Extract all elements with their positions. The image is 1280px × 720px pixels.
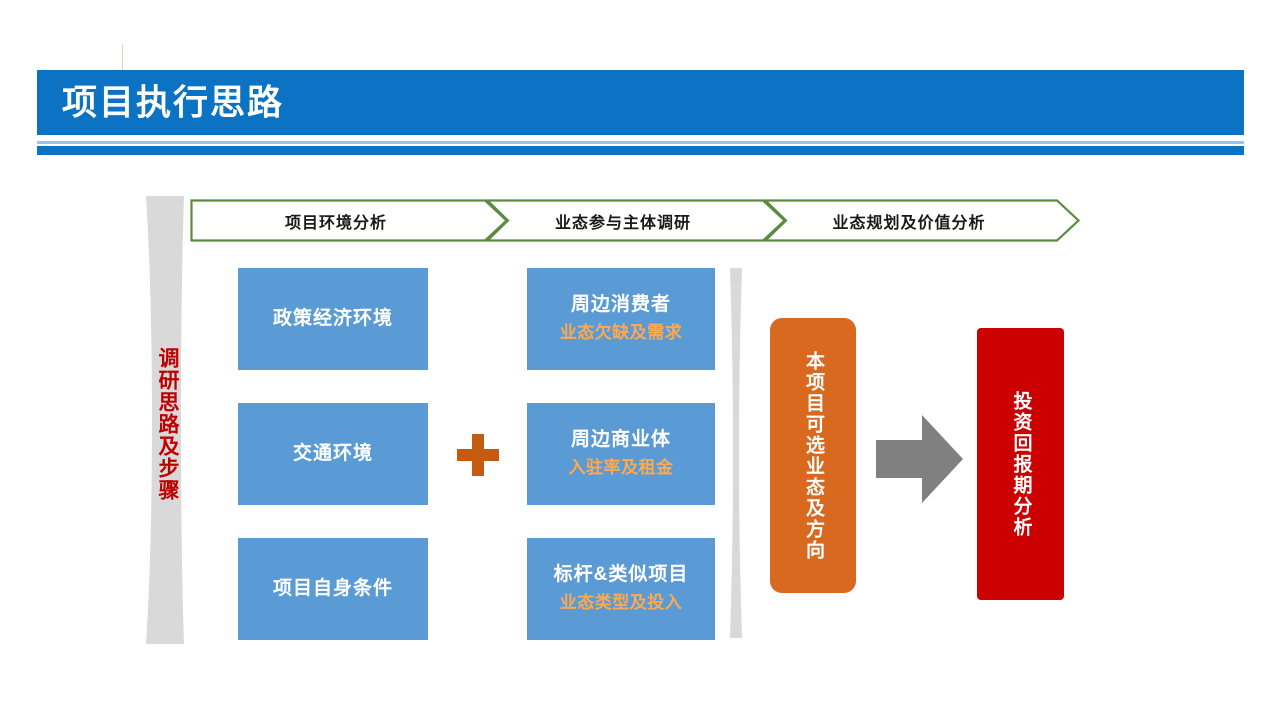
process-step-3[interactable]: 业态规划及价值分析 [764,199,1080,242]
card-title: 周边消费者 [571,294,671,317]
plus-icon [455,432,501,478]
header-tick-mark [122,44,123,72]
header-rule-light [37,141,1244,144]
process-step-1[interactable]: 项目环境分析 [190,199,508,242]
left-banner-shape: 调研思路及步骤 [138,196,192,644]
outcome-final[interactable]: 投资回报期分析 [977,328,1064,600]
outcome-final-label: 投资回报期分析 [1011,391,1031,538]
card-benchmark-projects[interactable]: 标杆&类似项目 业态类型及投入 [527,538,715,640]
process-step-2[interactable]: 业态参与主体调研 [486,199,786,242]
header-bar: 项目执行思路 [37,70,1244,135]
card-title: 标杆&类似项目 [554,564,689,587]
header-rule-dark [37,146,1244,155]
left-banner-label: 调研思路及步骤 [152,324,178,524]
process-step-row: 项目环境分析 业态参与主体调研 业态规划及价值分析 [190,199,1080,242]
card-title: 政策经济环境 [273,308,393,331]
vertical-divider-icon [726,268,746,638]
card-nearby-commerce[interactable]: 周边商业体 入驻率及租金 [527,403,715,505]
process-step-3-label: 业态规划及价值分析 [764,199,1080,242]
outcome-intermediate[interactable]: 本项目可选业态及方向 [770,318,856,593]
process-step-2-label: 业态参与主体调研 [486,199,786,242]
card-subtitle: 业态类型及投入 [560,593,683,613]
slide-canvas: 项目执行思路 调研思路及步骤 项目环境分析 业态参与主体调研 业态规划及价值 [0,0,1280,720]
card-subtitle: 业态欠缺及需求 [560,323,683,343]
card-policy-economy[interactable]: 政策经济环境 [238,268,428,370]
card-title: 交通环境 [293,443,373,466]
card-transport[interactable]: 交通环境 [238,403,428,505]
right-arrow-icon [876,413,964,505]
process-step-1-label: 项目环境分析 [190,199,508,242]
outcome-intermediate-label: 本项目可选业态及方向 [803,351,823,561]
card-title: 周边商业体 [571,429,671,452]
page-title: 项目执行思路 [62,85,284,120]
card-title: 项目自身条件 [273,578,393,601]
card-project-conditions[interactable]: 项目自身条件 [238,538,428,640]
card-nearby-consumers[interactable]: 周边消费者 业态欠缺及需求 [527,268,715,370]
card-subtitle: 入驻率及租金 [569,458,674,478]
